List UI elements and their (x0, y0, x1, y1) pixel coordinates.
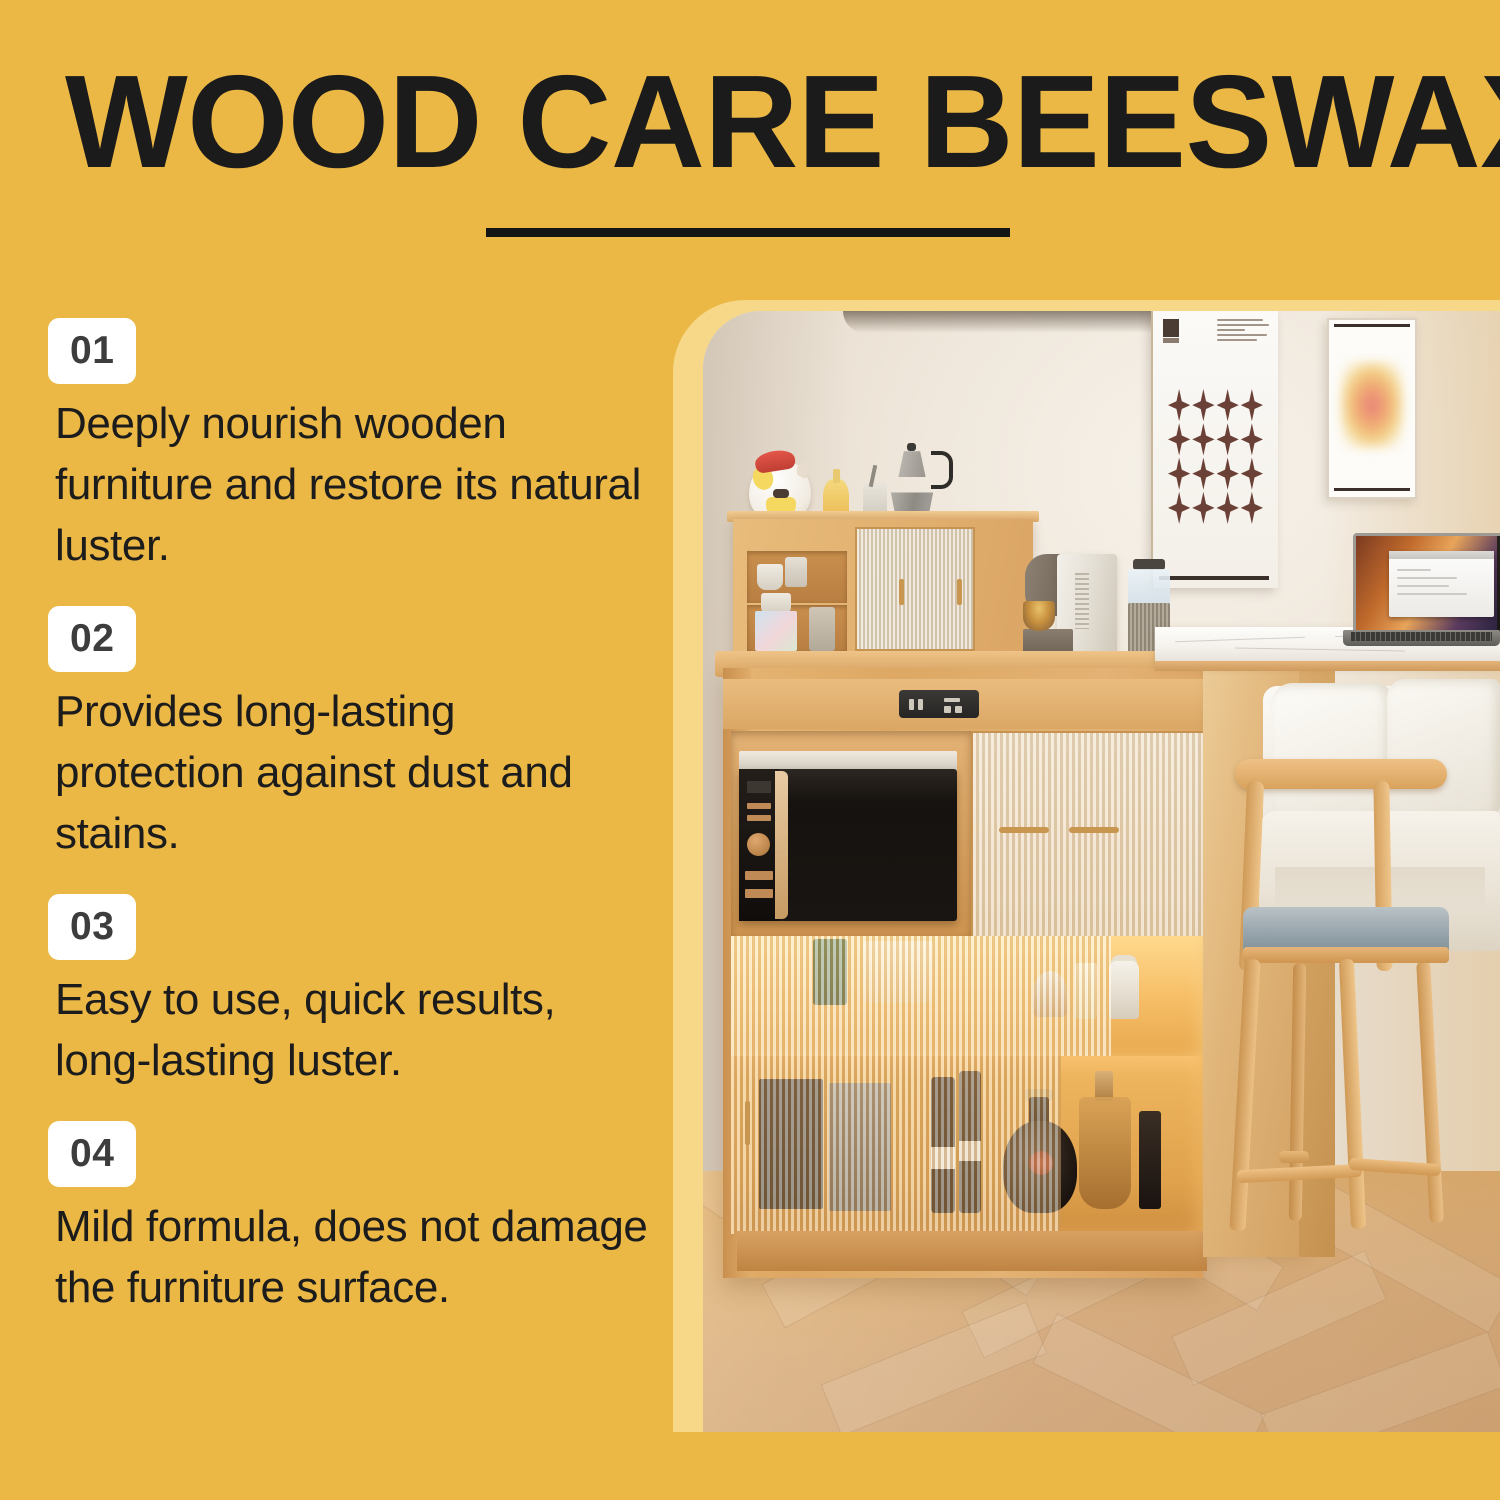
countertop-edge (1155, 661, 1500, 671)
poster-text-line (1217, 339, 1257, 341)
machine-vent (1075, 573, 1089, 629)
diamond-icon (1241, 423, 1263, 455)
document-text-line (1397, 593, 1467, 595)
laptop-document-window (1389, 551, 1494, 617)
outlet-socket-icon (944, 698, 960, 702)
cabinet-plinth (737, 1231, 1207, 1271)
document-text-line (1397, 577, 1457, 579)
poster-top-rail (1334, 324, 1410, 327)
diamond-icon (1168, 458, 1190, 490)
moka-pot-knob (907, 443, 916, 451)
fluted-glass-sliding-doors[interactable] (971, 731, 1207, 940)
microwave-button[interactable] (745, 871, 773, 880)
diamond-icon (1192, 458, 1214, 490)
feature-item-04: 04 Mild formula, does not damage the fur… (48, 1121, 660, 1318)
marble-vein (1175, 637, 1305, 643)
shelf-fluted-glass[interactable] (731, 936, 1111, 1056)
diamond-icon (1217, 458, 1239, 490)
laptop-keyboard (1351, 632, 1492, 641)
title-underline-divider (486, 228, 1010, 237)
whisky-bottle (1079, 1097, 1131, 1209)
poster-header (1161, 317, 1271, 357)
poster-text-line (1217, 319, 1263, 321)
diamond-icon (1217, 423, 1239, 455)
gradient-blur-poster (1327, 318, 1417, 499)
diamond-icon (1241, 492, 1263, 524)
feature-item-02: 02 Provides long-lasting protection agai… (48, 606, 660, 864)
feature-number-badge-04: 04 (48, 1121, 136, 1187)
product-scene-photo (703, 311, 1500, 1432)
cabinet-handle[interactable] (1069, 827, 1119, 833)
diamond-grid (1168, 389, 1263, 524)
amber-bottle-neck (833, 469, 840, 483)
microwave-display (747, 781, 771, 793)
page-title: WOOD CARE BEESWAX (0, 58, 1478, 186)
decor-figurine (1109, 961, 1139, 1019)
feature-text-02: Provides long-lasting protection against… (48, 681, 655, 864)
microwave-door-handle[interactable] (775, 771, 788, 919)
mug (785, 557, 807, 587)
moka-pot-handle (931, 451, 953, 489)
cabinet-handle[interactable] (745, 1101, 750, 1145)
book (755, 611, 797, 651)
microwave-dial[interactable] (747, 833, 770, 856)
feature-number-badge-02: 02 (48, 606, 136, 672)
cabinet-handle[interactable] (999, 827, 1049, 833)
poster-bottom-rail (1159, 576, 1269, 580)
feature-text-04: Mild formula, does not damage the furnit… (48, 1196, 655, 1318)
feature-text-01: Deeply nourish wooden furniture and rest… (48, 393, 655, 576)
diamond-icon (1217, 389, 1239, 421)
stool-rung (1279, 1151, 1309, 1163)
diamond-icon (1217, 492, 1239, 524)
header: WOOD CARE BEESWAX (0, 58, 1500, 186)
outlet-socket-icon (909, 699, 914, 710)
microwave-button[interactable] (745, 889, 773, 898)
diamond-icon (1192, 423, 1214, 455)
feature-number-badge-01: 01 (48, 318, 136, 384)
espresso-cup (1023, 601, 1055, 631)
diamond-icon (1192, 389, 1214, 421)
laptop-window-titlebar (1389, 551, 1494, 559)
document-text-line (1397, 585, 1449, 587)
feature-list: 01 Deeply nourish wooden furniture and r… (48, 318, 660, 1348)
outlet-socket-icon (955, 706, 962, 713)
power-outlet-strip[interactable] (899, 690, 979, 718)
diamond-icon (1168, 423, 1190, 455)
cabinet-handle[interactable] (957, 579, 962, 605)
bar-stool-backrest (1235, 759, 1447, 789)
infographic-page: WOOD CARE BEESWAX 01 Deeply nourish wood… (0, 0, 1500, 1500)
mug (757, 564, 783, 590)
poster-bottom-rail (1334, 488, 1410, 491)
document-text-line (1397, 569, 1431, 571)
poster-logo-caption (1163, 338, 1179, 343)
poster-text-line (1217, 329, 1245, 331)
outlet-socket-icon (918, 699, 923, 710)
feature-item-01: 01 Deeply nourish wooden furniture and r… (48, 318, 660, 576)
cabinet-handle[interactable] (899, 579, 904, 605)
dark-bottle (1139, 1111, 1161, 1209)
feature-number-badge-03: 03 (48, 894, 136, 960)
diamond-icon (1168, 492, 1190, 524)
cat-face (773, 489, 789, 498)
jar (809, 607, 835, 651)
ceiling-shadow (843, 311, 1173, 333)
poster-text-line (1217, 324, 1269, 326)
bar-fluted-glass-door[interactable] (731, 1056, 1061, 1234)
diamond-icon (1241, 389, 1263, 421)
sofa-cushion (1387, 679, 1500, 815)
diamond-icon (1192, 492, 1214, 524)
diamond-icon (1168, 389, 1190, 421)
microwave-button[interactable] (747, 815, 771, 821)
feature-text-03: Easy to use, quick results, long-lasting… (48, 969, 655, 1091)
outlet-socket-icon (944, 706, 951, 713)
marble-vein (1235, 648, 1405, 652)
diamond-pattern-poster (1151, 311, 1278, 588)
feature-item-03: 03 Easy to use, quick results, long-last… (48, 894, 660, 1091)
microwave-button[interactable] (747, 803, 771, 809)
diamond-icon (1241, 458, 1263, 490)
poster-logo-icon (1163, 319, 1179, 337)
poster-text-line (1217, 334, 1267, 336)
gradient-blur-art (1341, 362, 1403, 448)
